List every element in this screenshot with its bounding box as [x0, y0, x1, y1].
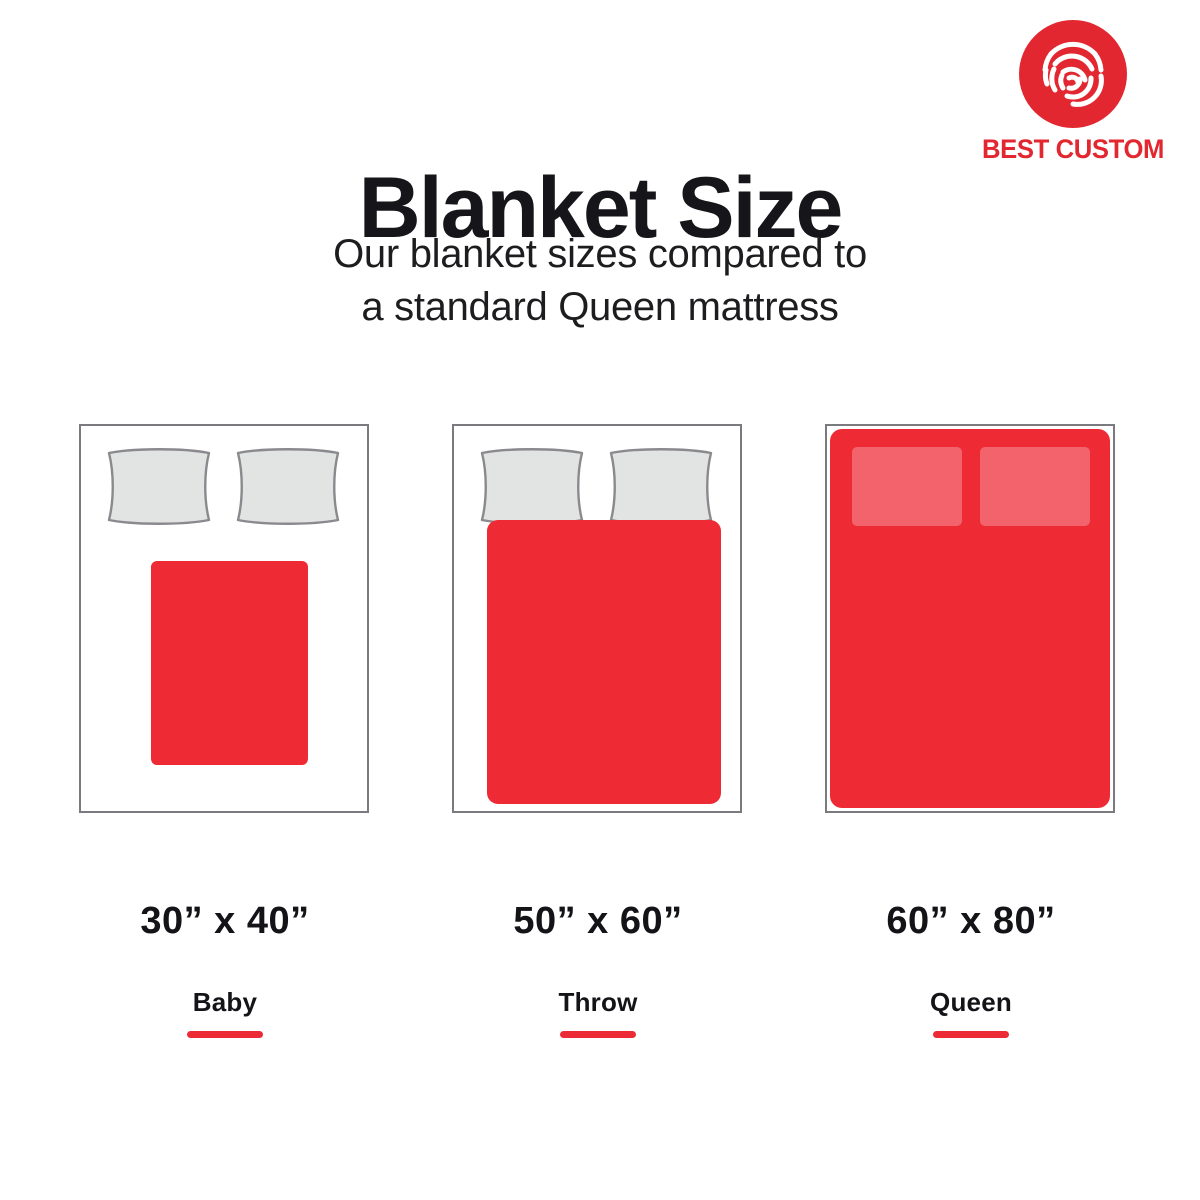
- fingerprint-icon: [1017, 18, 1129, 130]
- bed-diagram-throw: [452, 424, 744, 813]
- subtitle-line-2: a standard Queen mattress: [0, 281, 1200, 334]
- pillow-icon: [980, 447, 1090, 526]
- mattress-outline: [452, 424, 742, 813]
- underline-accent: [933, 1031, 1009, 1038]
- brand-logo: BEST CUSTOM: [968, 18, 1178, 165]
- pillow-icon: [606, 447, 716, 526]
- pillow-icon: [233, 447, 343, 526]
- caption-baby: 30” x 40” Baby: [79, 900, 371, 1038]
- underline-accent: [560, 1031, 636, 1038]
- blanket-queen: [830, 429, 1110, 808]
- mattress-outline: [825, 424, 1115, 813]
- subtitle-line-1: Our blanket sizes compared to: [0, 228, 1200, 281]
- underline-accent: [187, 1031, 263, 1038]
- pillow-icon: [852, 447, 962, 526]
- bed-diagram-queen: [825, 424, 1117, 813]
- size-name-label: Throw: [452, 987, 744, 1018]
- bed-diagram-group: [0, 424, 1200, 824]
- caption-group: 30” x 40” Baby 50” x 60” Throw 60” x 80”…: [0, 900, 1200, 1040]
- dimension-label: 60” x 80”: [825, 900, 1117, 943]
- infographic-canvas: BEST CUSTOM Blanket Size Our blanket siz…: [0, 0, 1200, 1200]
- blanket-throw: [487, 520, 721, 804]
- caption-queen: 60” x 80” Queen: [825, 900, 1117, 1038]
- size-name-label: Baby: [79, 987, 371, 1018]
- pillow-icon: [104, 447, 214, 526]
- bed-diagram-baby: [79, 424, 371, 813]
- caption-throw: 50” x 60” Throw: [452, 900, 744, 1038]
- dimension-label: 30” x 40”: [79, 900, 371, 943]
- mattress-outline: [79, 424, 369, 813]
- dimension-label: 50” x 60”: [452, 900, 744, 943]
- pillow-icon: [477, 447, 587, 526]
- brand-name: BEST CUSTOM: [973, 134, 1173, 165]
- blanket-baby: [151, 561, 308, 765]
- page-subtitle: Our blanket sizes compared to a standard…: [0, 228, 1200, 334]
- size-name-label: Queen: [825, 987, 1117, 1018]
